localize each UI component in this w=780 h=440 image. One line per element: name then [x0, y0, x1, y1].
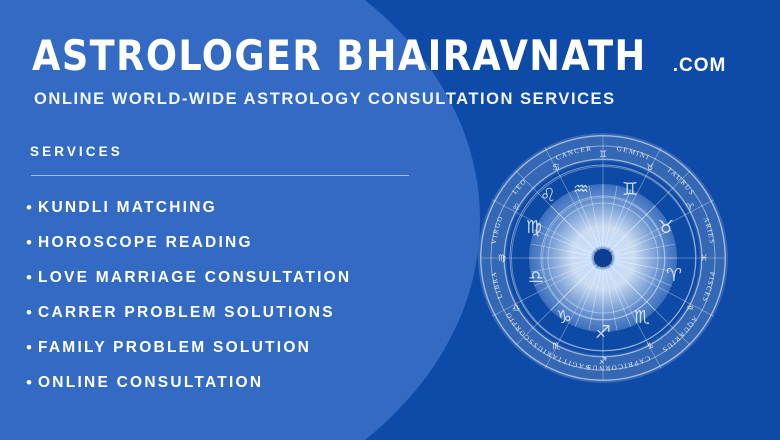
svg-text:♈: ♈ [686, 203, 695, 213]
brand-title: ASTROLOGER BHAIRAVNATH .COM [32, 34, 726, 78]
zodiac-wheel-clip: VIRGO LEO CANCER GEMINI TAURUS ARIES PIS… [478, 133, 728, 383]
brand-name: ASTROLOGER BHAIRAVNATH [32, 34, 647, 78]
service-label: KUNDLI MATCHING [38, 199, 217, 217]
svg-text:♑: ♑ [556, 307, 572, 328]
svg-text:♌: ♌ [512, 203, 520, 213]
svg-text:♏: ♏ [634, 307, 650, 328]
bullet-icon: • [26, 199, 38, 216]
svg-text:CAPRICORNUS: CAPRICORNUS [585, 354, 651, 372]
zodiac-wheel-graphic: VIRGO LEO CANCER GEMINI TAURUS ARIES PIS… [478, 133, 728, 383]
list-item: • FAMILY PROBLEM SOLUTION [26, 330, 456, 365]
svg-text:♍: ♍ [498, 254, 506, 264]
svg-text:♏: ♏ [552, 342, 560, 352]
bullet-icon: • [26, 339, 38, 356]
svg-text:CANCER: CANCER [555, 145, 593, 163]
service-label: ONLINE CONSULTATION [38, 374, 263, 392]
service-label: CARRER PROBLEM SOLUTIONS [38, 304, 335, 322]
svg-text:LEO: LEO [511, 177, 529, 196]
svg-text:♌: ♌ [540, 185, 556, 206]
service-label: HOROSCOPE READING [38, 234, 253, 252]
svg-text:TAURUS: TAURUS [665, 166, 696, 198]
services-list: • KUNDLI MATCHING • HOROSCOPE READING • … [26, 190, 456, 400]
svg-text:♎: ♎ [512, 304, 520, 314]
svg-text:♐: ♐ [599, 357, 607, 367]
bullet-icon: • [26, 304, 38, 321]
service-label: FAMILY PROBLEM SOLUTION [38, 339, 311, 357]
svg-text:♉: ♉ [646, 163, 654, 173]
list-item: • LOVE MARRIAGE CONSULTATION [26, 260, 456, 295]
brand-tagline: ONLINE WORLD-WIDE ASTROLOGY CONSULTATION… [34, 90, 616, 109]
svg-text:♑: ♑ [646, 342, 654, 352]
svg-text:♉: ♉ [658, 217, 674, 238]
svg-text:LIBRA: LIBRA [490, 270, 505, 300]
svg-text:VIRGO: VIRGO [490, 214, 505, 245]
services-divider [31, 175, 409, 176]
zodiac-sign-labels: VIRGO LEO CANCER GEMINI TAURUS ARIES PIS… [478, 133, 728, 383]
list-item: • HOROSCOPE READING [26, 225, 456, 260]
svg-text:SCORPIO: SCORPIO [504, 310, 536, 346]
bullet-icon: • [26, 374, 38, 391]
svg-text:♐: ♐ [595, 322, 611, 343]
list-item: • ONLINE CONSULTATION [26, 365, 456, 400]
svg-text:ARIES: ARIES [702, 216, 717, 245]
svg-text:♓: ♓ [700, 254, 708, 264]
bullet-icon: • [26, 234, 38, 251]
bullet-icon: • [26, 269, 38, 286]
services-heading: SERVICES [30, 144, 123, 159]
list-item: • KUNDLI MATCHING [26, 190, 456, 225]
brand-tld: .COM [666, 56, 727, 78]
service-label: LOVE MARRIAGE CONSULTATION [38, 269, 351, 287]
svg-text:♋: ♋ [552, 163, 560, 173]
astrology-service-banner: VIRGO LEO CANCER GEMINI TAURUS ARIES PIS… [0, 0, 780, 440]
svg-text:SAGITTARIUS: SAGITTARIUS [531, 340, 590, 371]
svg-text:♍: ♍ [526, 217, 542, 238]
svg-text:♊: ♊ [622, 179, 638, 200]
svg-text:♊: ♊ [599, 150, 607, 160]
list-item: • CARRER PROBLEM SOLUTIONS [26, 295, 456, 330]
svg-text:GEMINI: GEMINI [616, 145, 651, 162]
svg-text:♒: ♒ [686, 304, 694, 314]
svg-text:♎: ♎ [528, 267, 544, 288]
svg-text:PISCES: PISCES [700, 271, 716, 304]
svg-text:♈: ♈ [666, 265, 682, 286]
svg-text:AQUARIUS: AQUARIUS [660, 315, 699, 354]
svg-text:♒: ♒ [573, 179, 589, 200]
